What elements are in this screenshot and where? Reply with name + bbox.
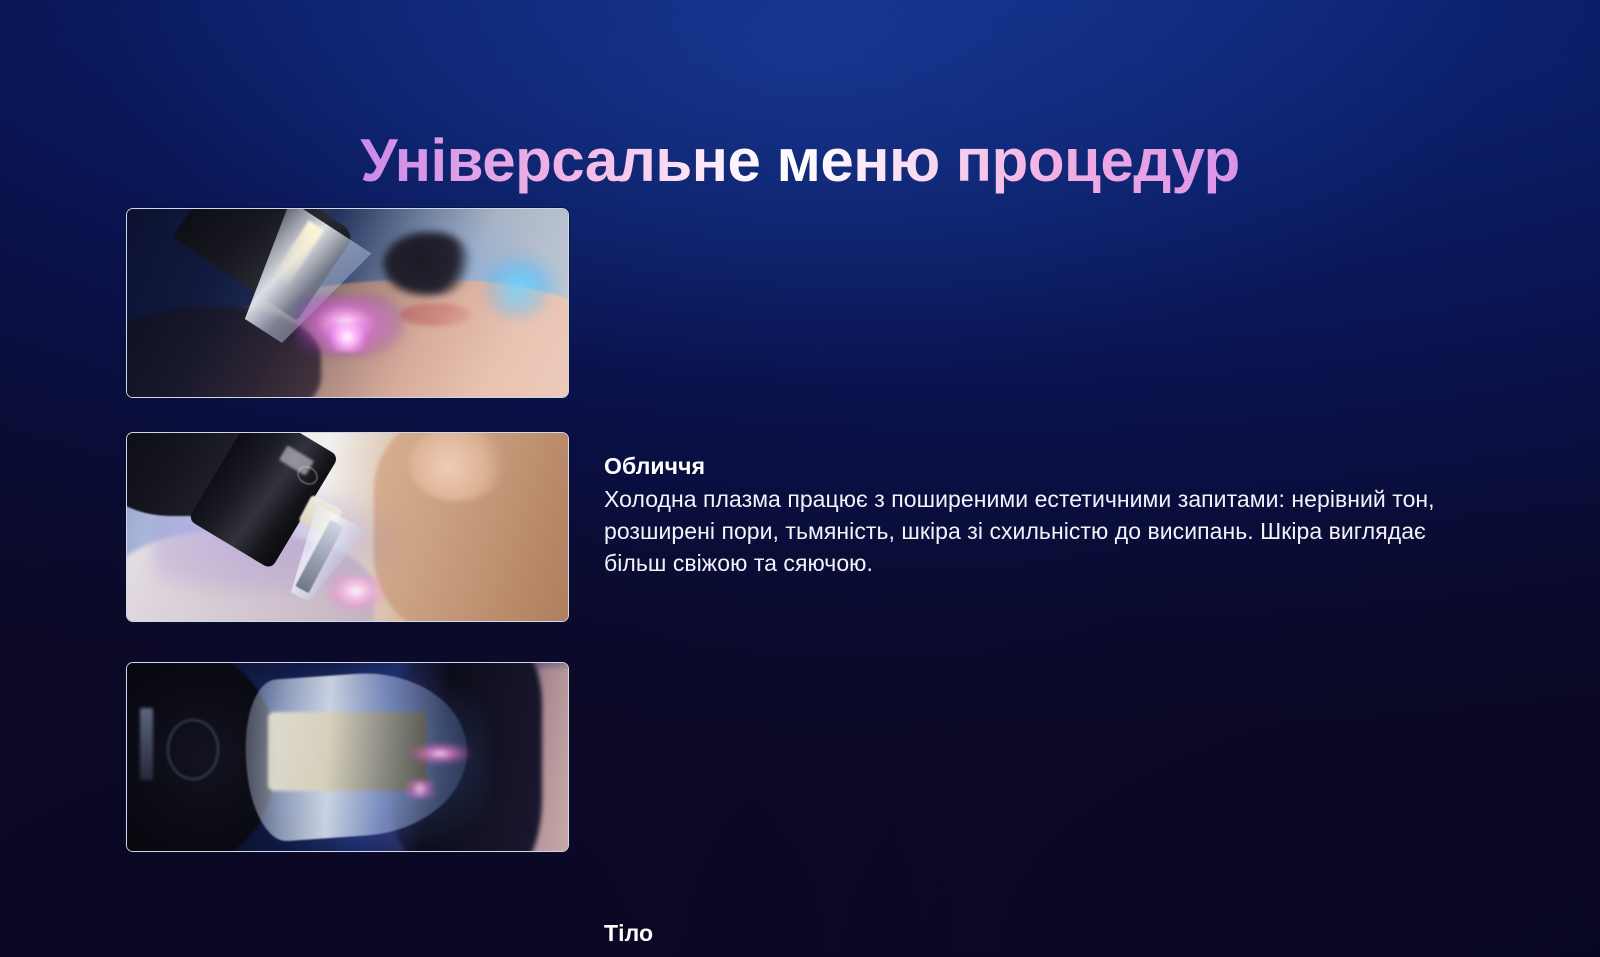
procedure-text-body: Тіло Технологія працює з текстурою шкіри… [604,918,1444,957]
plasma-glow-icon [409,742,471,765]
procedure-image-body [126,432,569,622]
procedure-title: Обличчя [604,451,1444,481]
procedure-image-scalp [126,662,569,852]
device-ring-icon [167,719,220,779]
face-lips-shape [400,303,471,326]
face-background-blob [383,232,471,296]
blue-bokeh-light [480,262,555,318]
slide-root: Універсальне меню процедур [0,0,1600,957]
procedure-text-face: Обличчя Холодна плазма працює з поширени… [604,451,1444,580]
procedure-title: Тіло [604,918,1444,948]
procedure-image-face [126,208,569,398]
procedure-description: Холодна плазма працює з поширеними естет… [604,484,1444,579]
plasma-spark-icon [321,322,374,352]
procedure-list: Обличчя Холодна плазма працює з поширени… [0,0,1600,957]
body-treatment-photo [127,433,568,621]
device-label-icon [140,708,153,779]
face-treatment-photo [127,209,568,397]
plasma-spark-icon [400,780,440,799]
scalp-treatment-photo [127,663,568,851]
slide-content: Універсальне меню процедур [0,0,1600,957]
procedure-description: Технологія працює з текстурою шкіри: шия… [604,951,1444,957]
plasma-glow-icon [325,576,387,614]
